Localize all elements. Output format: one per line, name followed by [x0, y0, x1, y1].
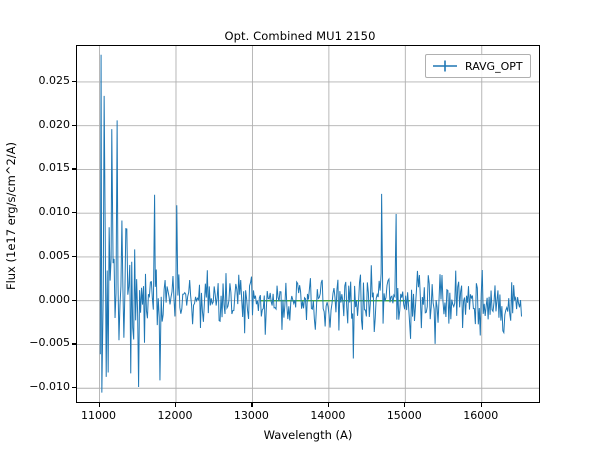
y-tick-label: 0.020 — [10, 118, 70, 131]
y-tick-label: 0.015 — [10, 161, 70, 174]
x-tick-mark — [404, 403, 405, 407]
y-axis-tick-labels: 0.0250.0200.0150.0100.0050.000−0.005−0.0… — [6, 0, 70, 450]
x-tick-mark — [481, 403, 482, 407]
page-title: Opt. Combined MU1 2150 — [0, 29, 600, 43]
x-tick-label: 14000 — [288, 409, 368, 422]
plot-area[interactable] — [76, 45, 540, 403]
y-tick-label: −0.010 — [10, 380, 70, 393]
x-tick-mark — [99, 403, 100, 407]
matplotlib-figure: Opt. Combined MU1 2150 Flux (1e17 erg/s/… — [0, 0, 600, 450]
y-tick-label: 0.025 — [10, 74, 70, 87]
spectrum-line — [100, 55, 521, 393]
errorbar-cap-icon — [432, 59, 458, 73]
x-tick-label: 16000 — [441, 409, 521, 422]
y-tick-label: 0.000 — [10, 293, 70, 306]
y-tick-label: −0.005 — [10, 336, 70, 349]
y-tick-label: 0.005 — [10, 249, 70, 262]
legend-entry-label: RAVG_OPT — [465, 60, 523, 73]
x-tick-label: 15000 — [364, 409, 444, 422]
x-tick-label: 12000 — [135, 409, 215, 422]
x-tick-label: 13000 — [211, 409, 291, 422]
x-axis-label: Wavelength (A) — [76, 428, 540, 442]
x-tick-mark — [251, 403, 252, 407]
x-tick-label: 11000 — [59, 409, 139, 422]
legend[interactable]: RAVG_OPT — [425, 54, 531, 78]
spectrum-canvas — [77, 46, 540, 403]
y-tick-label: 0.010 — [10, 205, 70, 218]
x-tick-mark — [328, 403, 329, 407]
x-tick-mark — [175, 403, 176, 407]
